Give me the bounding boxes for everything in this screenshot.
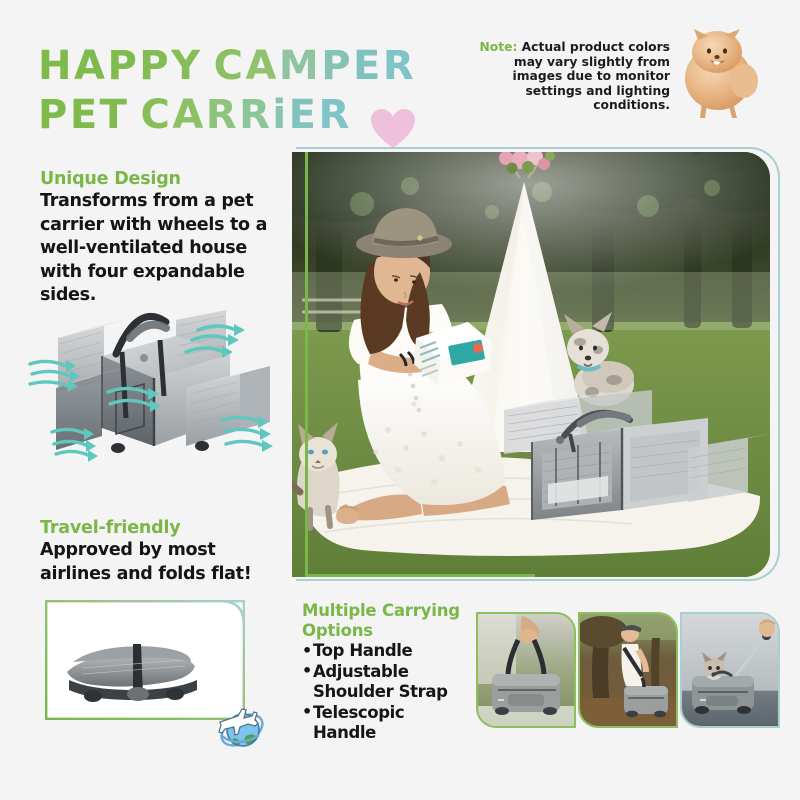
carrying-option-item: Telescopic Handle (302, 703, 462, 744)
globe-airplane-icon (212, 702, 266, 752)
thumbnail-top-handle (478, 614, 574, 726)
title-char-A2: A (245, 42, 278, 91)
title-char-E: E (353, 42, 383, 91)
carrying-options-heading-line2: Options (302, 621, 462, 641)
title-char-Y: Y (171, 42, 202, 91)
title2-char-C: C (140, 91, 172, 140)
title-char-P2: P (139, 42, 171, 91)
pomeranian-dog-illustration (672, 26, 764, 122)
unique-design-heading: Unique Design (40, 168, 280, 190)
title2-char-E2: E (289, 91, 319, 140)
title2-char-A: A (172, 91, 205, 140)
thumbnail-telescopic-handle (682, 614, 778, 726)
note-label: Note: (479, 40, 517, 54)
title-char-H: H (38, 42, 74, 91)
title2-char-I: i (272, 91, 288, 140)
title2-char-R2: R (239, 91, 272, 140)
feature-unique-design: Unique Design Transforms from a pet carr… (40, 168, 280, 308)
note-block: Note: Actual product colors may vary sli… (470, 40, 670, 113)
infographic-canvas: HAPPYCAMPER PETCARRiER Note: Actual prod… (0, 0, 800, 800)
thumbnail-shoulder-strap (580, 614, 676, 726)
title-char-M: M (279, 42, 321, 91)
title2-char-R1: R (206, 91, 239, 140)
title-char-P1: P (107, 42, 139, 91)
title-line-1: HAPPYCAMPER (38, 42, 458, 91)
feature-travel-friendly: Travel-friendly Approved by most airline… (40, 517, 290, 586)
title2-char-R3: R (318, 91, 351, 140)
carrying-options-heading-line1: Multiple Carrying (302, 601, 462, 621)
note-text: Actual product colors may vary slightly … (513, 40, 670, 112)
unique-design-body: Transforms from a pet carrier with wheel… (40, 190, 280, 308)
expandable-pet-carrier-airflow-diagram (26, 296, 288, 496)
carrying-options-list: Top Handle Adjustable Shoulder Strap Tel… (302, 641, 462, 744)
hero-accent-line-bottom (305, 574, 535, 577)
carrying-option-item: Adjustable Shoulder Strap (302, 662, 462, 703)
title2-char-E: E (70, 91, 100, 140)
hero-lifestyle-photo (292, 152, 770, 577)
travel-friendly-body: Approved by most airlines and folds flat… (40, 539, 290, 586)
title2-char-P: P (38, 91, 70, 140)
feature-carrying-options: Multiple Carrying Options Top Handle Adj… (302, 601, 462, 744)
title-char-P3: P (321, 42, 353, 91)
heart-icon (370, 108, 416, 150)
title2-char-T: T (100, 91, 130, 140)
title-char-C: C (214, 42, 246, 91)
carrying-option-item: Top Handle (302, 641, 462, 662)
travel-friendly-heading: Travel-friendly (40, 517, 290, 539)
title-char-A: A (74, 42, 107, 91)
title-char-R: R (383, 42, 416, 91)
hero-accent-line-left (305, 152, 308, 577)
